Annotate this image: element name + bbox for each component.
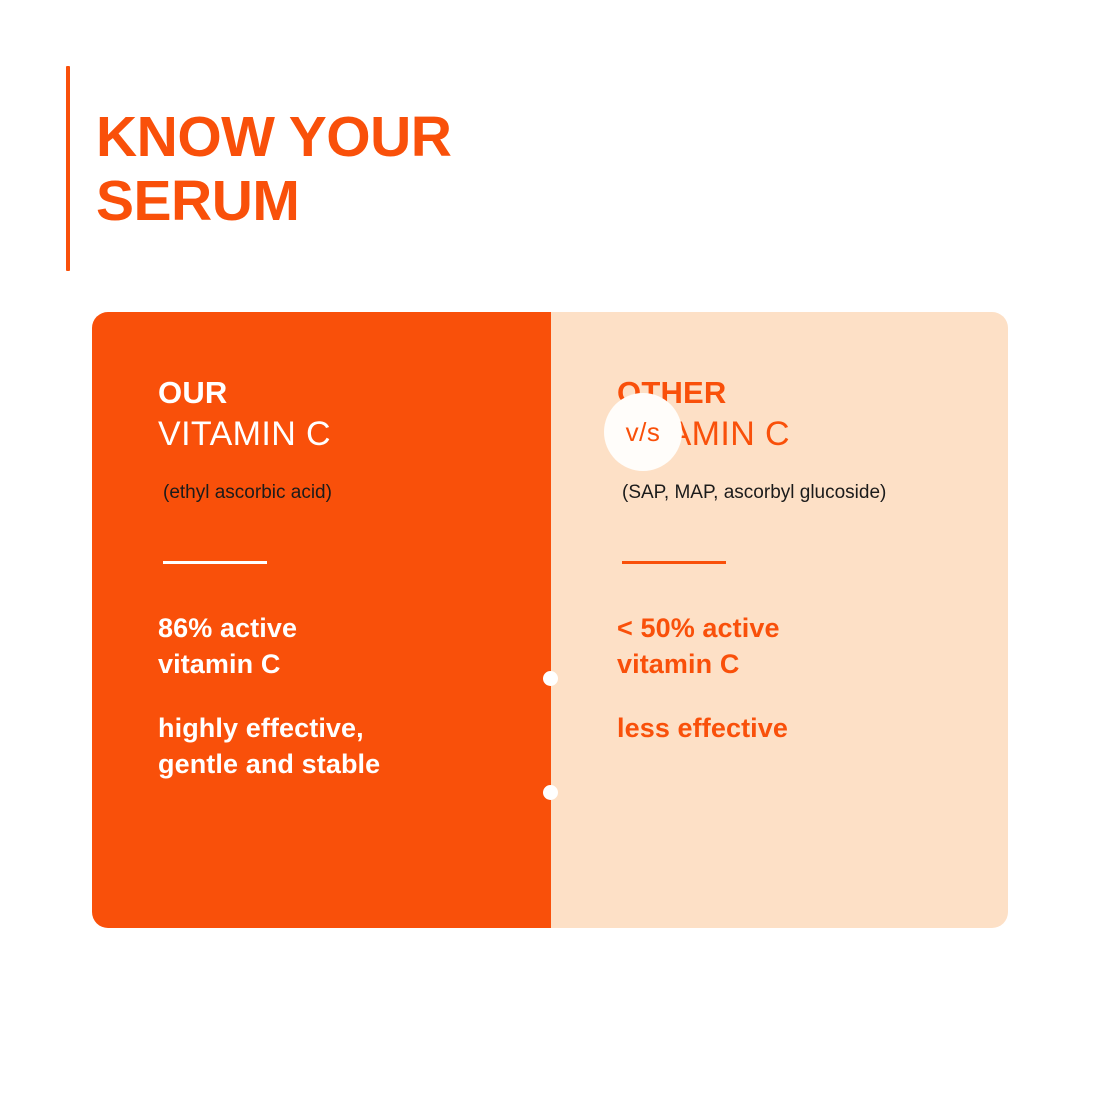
versus-badge: v/s — [604, 393, 682, 471]
page-heading: KNOW YOUR SERUM — [66, 66, 451, 271]
panel-our-vitamin-c: OUR VITAMIN C (ethyl ascorbic acid) 86% … — [92, 312, 551, 928]
our-product-name: VITAMIN C — [158, 412, 551, 456]
infographic-page: KNOW YOUR SERUM OUR VITAMIN C (ethyl asc… — [0, 0, 1100, 1100]
page-title: KNOW YOUR SERUM — [96, 104, 451, 233]
list-item: 86% active vitamin C — [158, 610, 551, 682]
our-benefits-list: 86% active vitamin C highly effective, g… — [158, 610, 551, 782]
list-item: highly effective, gentle and stable — [158, 710, 551, 782]
comparison-card: OUR VITAMIN C (ethyl ascorbic acid) 86% … — [92, 312, 1008, 928]
our-label: OUR — [158, 374, 551, 412]
divider-dot-icon — [543, 785, 558, 800]
list-item: < 50% active vitamin C — [617, 610, 1008, 682]
divider-dot-icon — [543, 671, 558, 686]
list-item: less effective — [617, 710, 1008, 746]
versus-badge-label: v/s — [626, 419, 661, 445]
our-divider-rule — [163, 561, 267, 564]
other-ingredients: (SAP, MAP, ascorbyl glucoside) — [622, 480, 1008, 506]
heading-accent-bar — [66, 66, 70, 271]
other-divider-rule — [622, 561, 726, 564]
other-drawbacks-list: < 50% active vitamin C less effective — [617, 610, 1008, 746]
other-label: OTHER — [617, 374, 1008, 412]
our-ingredients: (ethyl ascorbic acid) — [163, 480, 551, 506]
